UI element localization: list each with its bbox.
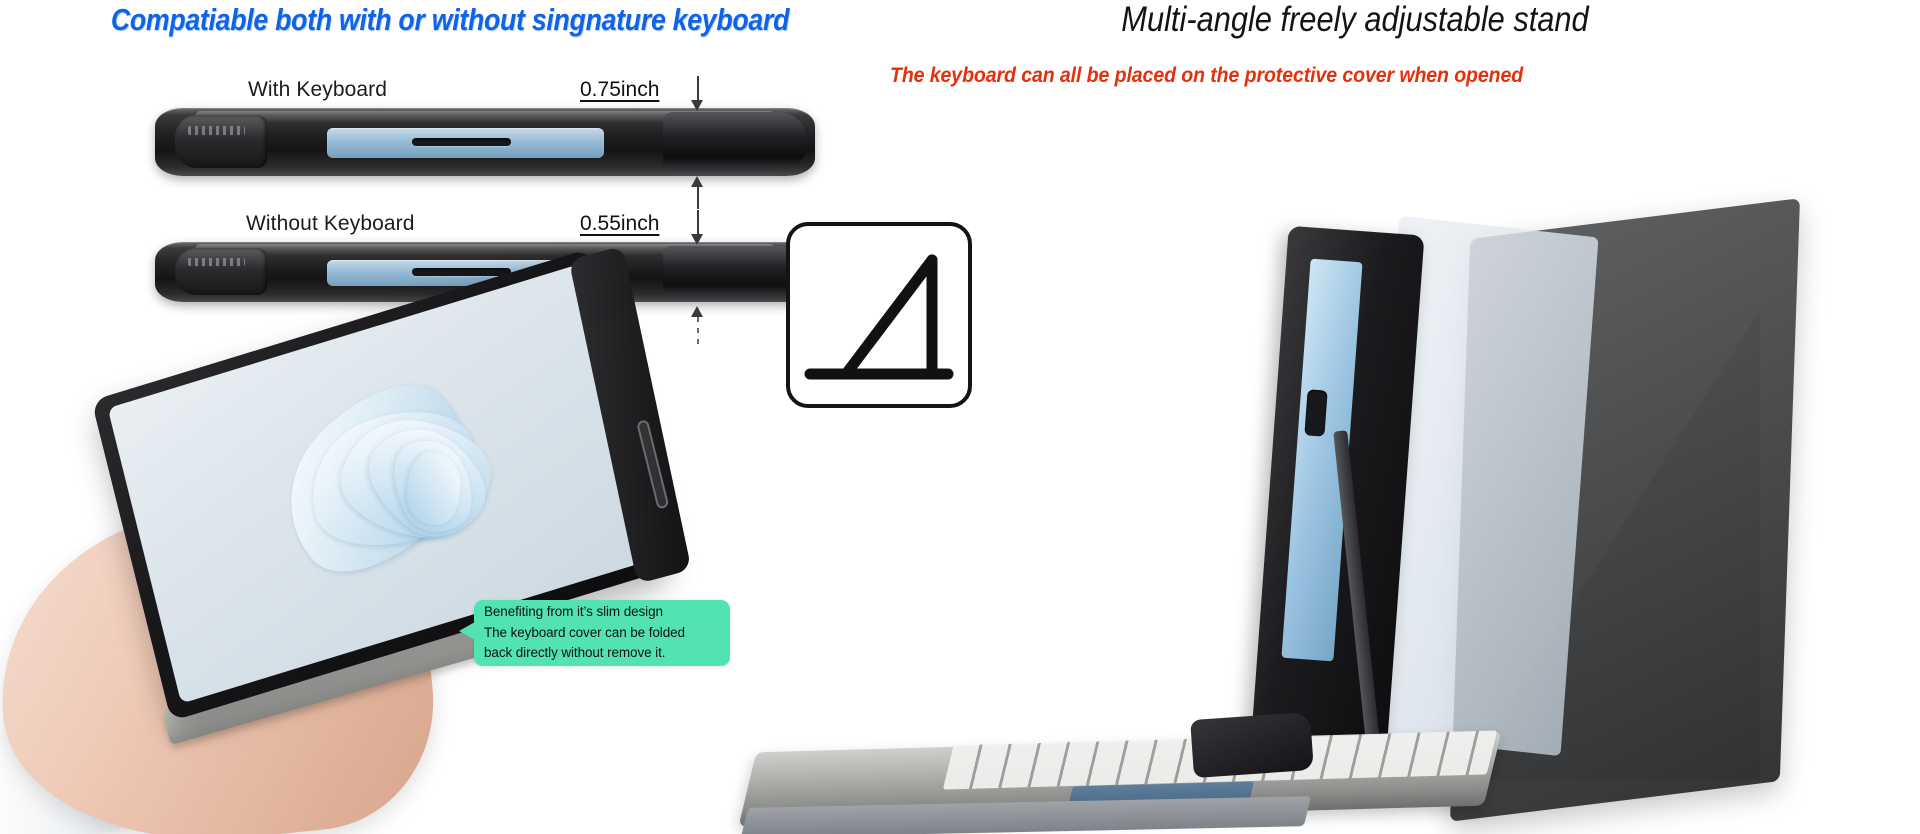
right-headline: Multi-angle freely adjustable stand [999,0,1712,42]
device-slab-with-keyboard [155,108,815,176]
arrow-up-icon-gap-bottom [691,306,703,317]
left-headline: Compatiable both with or without singnat… [63,0,837,40]
hand-holding-tablet-photo [60,320,700,834]
callout-line-3: back directly without remove it. [484,643,722,664]
arrow-down-icon-1 [691,100,703,111]
tablet-on-stand-photo [740,190,1920,834]
thickness-arrow-down-shaft-2 [697,210,699,236]
callout-line-1: Benefiting from it’s slim design [484,602,722,623]
right-subheadline: The keyboard can all be placed on the pr… [890,62,1541,90]
slim-design-callout: Benefiting from it’s slim design The key… [474,600,730,666]
gap-arrow-shaft-top [697,187,699,209]
cover-magnetic-clip [1190,712,1314,778]
with-keyboard-label: With Keyboard [248,78,387,102]
without-keyboard-measurement: 0.55inch [580,212,659,236]
product-feature-banner: Compatiable both with or without singnat… [0,0,1920,834]
without-keyboard-label: Without Keyboard [246,212,415,236]
with-keyboard-measurement: 0.75inch [580,78,659,102]
arrow-up-icon-gap-top [691,176,703,187]
thickness-arrow-down-shaft-1 [697,76,699,102]
arrow-down-icon-2 [691,234,703,245]
callout-line-2: The keyboard cover can be folded [484,623,722,644]
tablet-port [1304,389,1327,436]
